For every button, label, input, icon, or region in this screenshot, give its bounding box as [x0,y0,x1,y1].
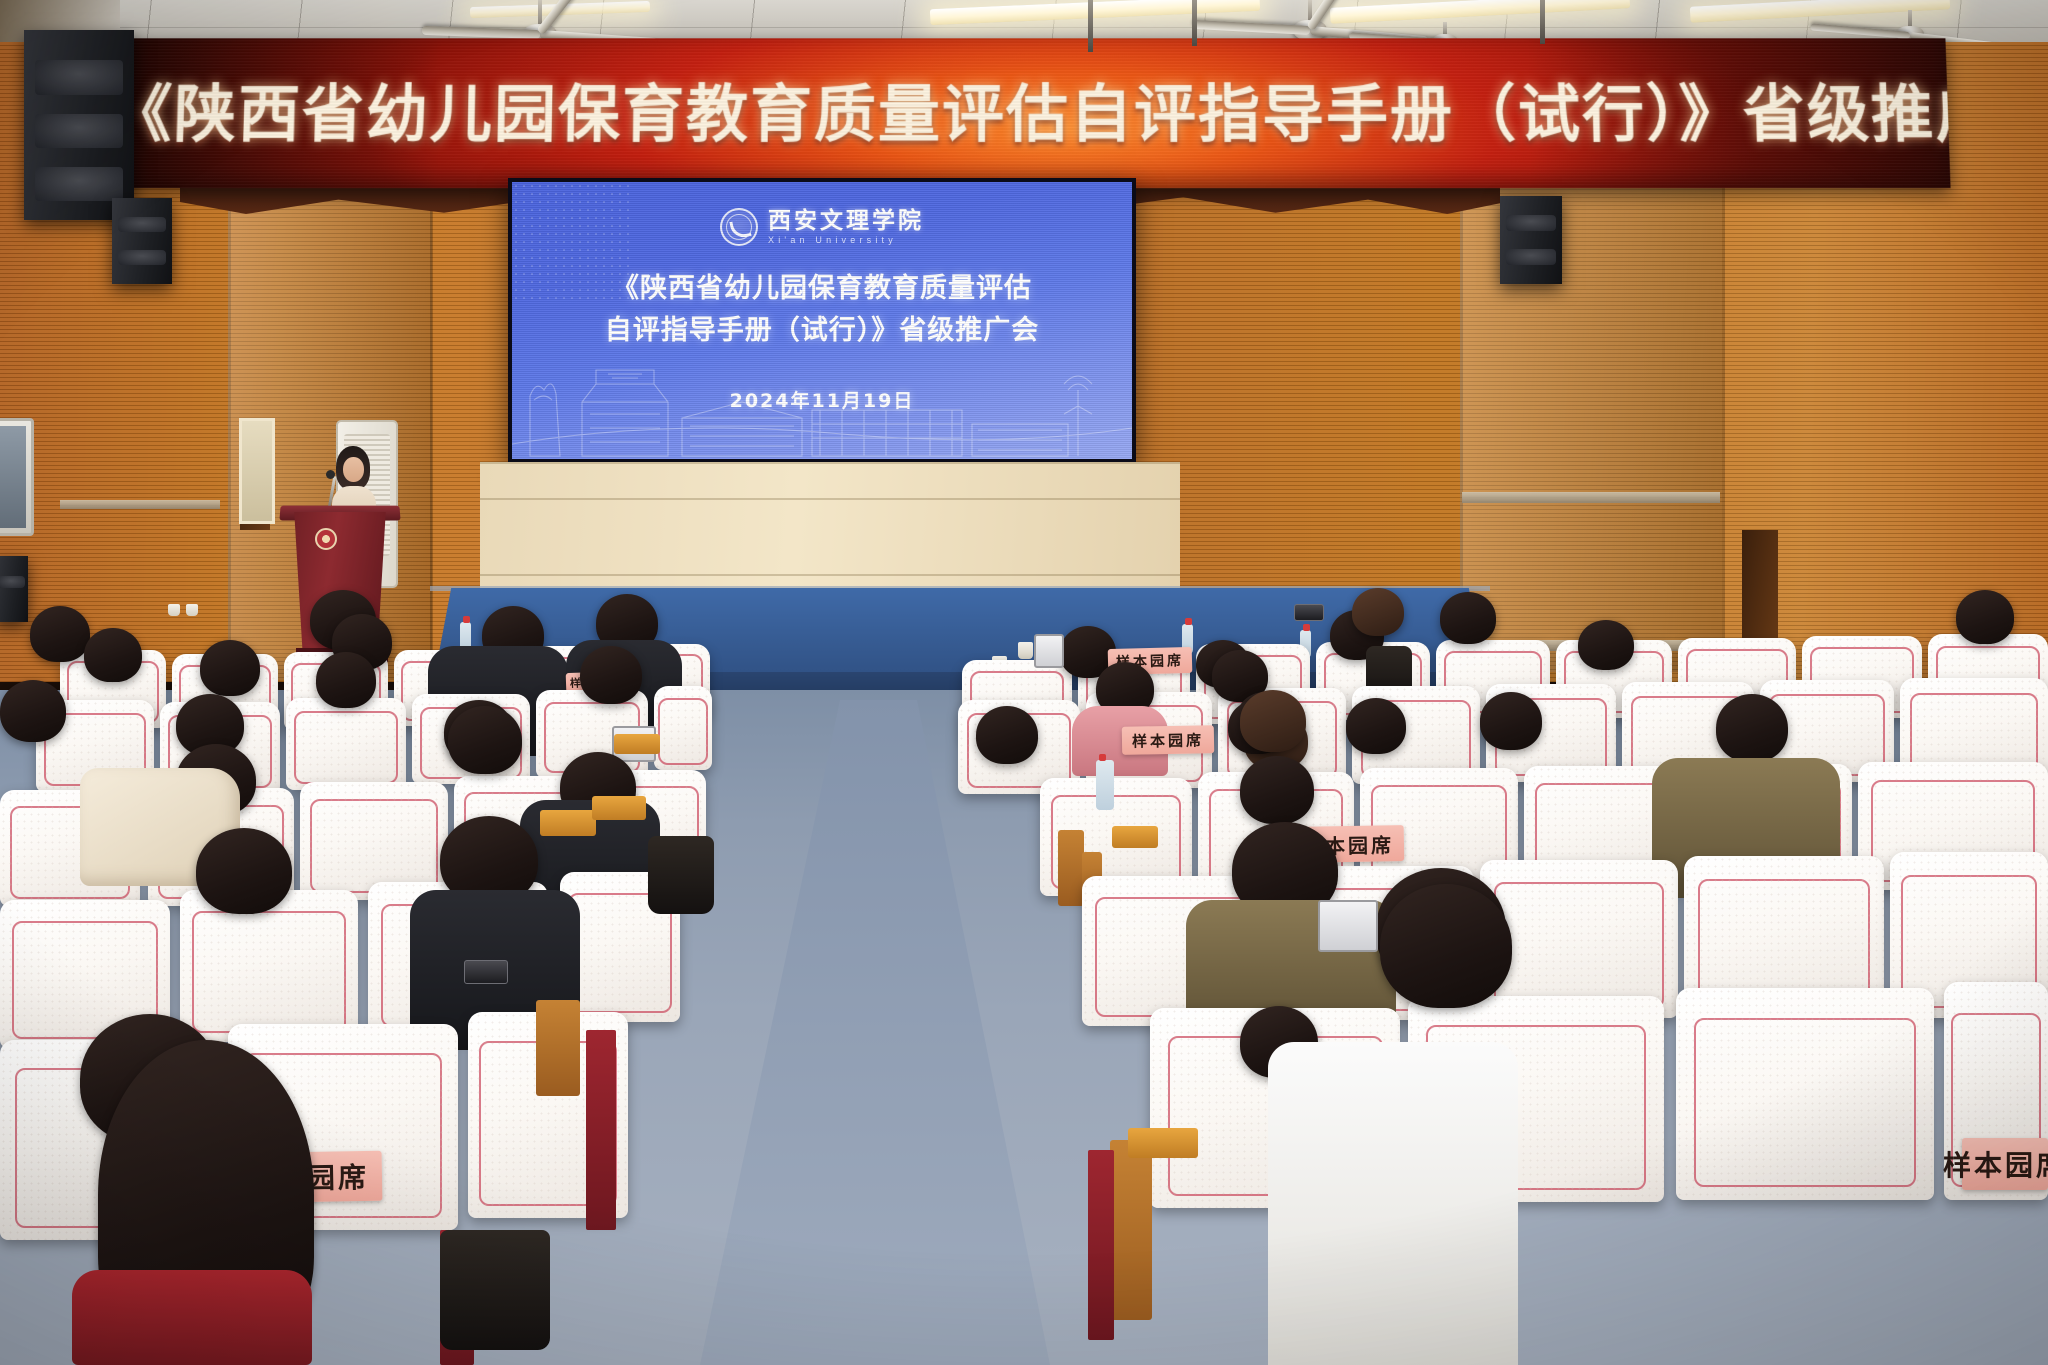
smartphone-camera-icon[interactable] [1294,604,1324,621]
university-seal-icon [720,208,758,246]
audience-torso [72,1270,312,1365]
seat[interactable] [1676,988,1934,1200]
wall-trim-band [1462,492,1720,503]
handbag-icon [648,836,714,914]
beige-wall-panel [480,462,1180,597]
tablet-icon[interactable] [1034,634,1064,668]
loudspeaker-icon [24,30,134,220]
audience-head [200,640,260,696]
banner-shadow-right [1527,38,1951,188]
audience-head [30,606,90,662]
audience-head [448,706,522,774]
audience-head [1956,590,2014,644]
slide-date: 2024年11月19日 [512,386,1132,413]
audience-head [1440,592,1496,644]
seat-sign-label: 样本园席 [1132,729,1204,751]
campus-skyline-graphic [512,344,1132,459]
university-name-cn: 西安文理学院 [768,209,924,232]
seat-sign: 样本园席 [1962,1138,2048,1190]
wall-niche [239,418,275,524]
event-banner: 《陕西省幼儿园保育教育质量评估自评指导手册（试行）》省级推广会 [107,38,1950,188]
loudspeaker-icon [1500,196,1562,284]
paper-cup-icon [168,604,180,616]
wall-seam [1722,150,1725,670]
slide-title-line-2: 自评指导手册（试行）》省级推广会 [512,310,1132,352]
audience-head [196,828,292,914]
loudspeaker-icon [112,198,172,284]
audience-head [84,628,142,682]
audience-head [1240,756,1314,824]
seat-frame [536,1000,580,1096]
led-screen-bezel: 西安文理学院 Xi'an University 《陕西省幼儿园保育教育质量评估 … [508,178,1136,463]
seat-frame [1110,1140,1152,1320]
seat-armrest [540,810,596,836]
audience-head [1352,588,1404,636]
audience-head [976,706,1038,764]
seat-frame [1058,830,1084,906]
school-crest-icon [315,528,337,550]
seat-sign: 样本园席 [1122,725,1214,755]
speaker-support-rod [1540,0,1545,44]
audience-head [1578,620,1634,670]
audience-head [1346,698,1406,754]
banner-title-text: 《陕西省幼儿园保育教育质量评估自评指导手册（试行）》省级推广会 [109,64,1950,154]
audience-head [1240,690,1306,752]
banner-shadow-left [107,38,441,188]
seat[interactable] [654,686,712,770]
seat-armrest [614,734,660,754]
seat-side-panel [1088,1150,1114,1340]
audience-head [316,652,376,708]
water-bottle-icon [1096,760,1114,810]
speaker-support-rod [1088,0,1093,52]
seat[interactable] [180,890,358,1042]
seat-side-panel [586,1030,616,1230]
audience-head [1380,884,1512,1008]
university-logo: 西安文理学院 Xi'an University [512,208,1132,246]
audience-head [580,646,642,704]
audience-head [0,680,66,742]
speaker-support-rod [1192,0,1197,46]
loudspeaker-icon [0,556,28,622]
led-screen: 西安文理学院 Xi'an University 《陕西省幼儿园保育教育质量评估 … [512,182,1132,459]
seat-armrest [1112,826,1158,848]
seat-armrest [592,796,646,820]
smartphone-camera-icon[interactable] [464,960,508,984]
conference-hall-photo: 《陕西省幼儿园保育教育质量评估自评指导手册（试行）》省级推广会 [0,0,2048,1365]
slide-title: 《陕西省幼儿园保育教育质量评估 自评指导手册（试行）》省级推广会 [512,268,1132,352]
seat[interactable] [286,698,406,790]
slide-title-line-1: 《陕西省幼儿园保育教育质量评估 [512,268,1132,310]
microphone-head-icon [326,470,335,479]
university-name-en: Xi'an University [768,235,897,245]
tablet-icon[interactable] [1318,900,1378,952]
audience-head [1480,692,1542,750]
seat-armrest [1128,1128,1198,1158]
presenter-face [343,457,364,482]
wall-trim-band [60,500,220,509]
paper-cup-icon [1018,642,1033,659]
wall-monitor-icon [0,418,34,536]
audience-torso [1268,1042,1518,1365]
handbag-icon [440,1230,550,1350]
seat-sign-label: 样本园席 [1943,1144,2048,1184]
audience-head [1716,694,1788,762]
paper-cup-icon [186,604,198,616]
screen-dot-pattern [512,182,632,302]
